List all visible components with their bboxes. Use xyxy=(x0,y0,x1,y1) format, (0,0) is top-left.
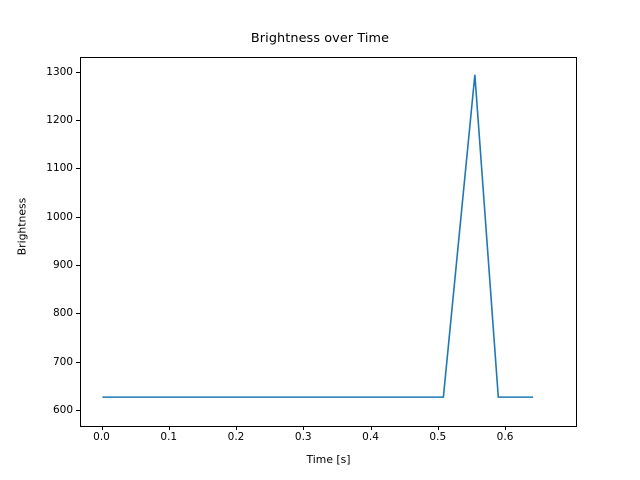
y-tick-label: 1000 xyxy=(46,211,73,223)
plot-area xyxy=(80,57,577,427)
y-tick-label: 700 xyxy=(53,356,73,368)
x-tick-label: 0.6 xyxy=(497,431,514,443)
y-tick-label: 800 xyxy=(53,307,73,319)
y-tick-label: 600 xyxy=(53,404,73,416)
matplotlib-figure: Brightness over Time Brightness 60070080… xyxy=(0,0,640,480)
y-tick-label: 1100 xyxy=(46,162,73,174)
y-axis-tick-labels: 6007008009001000110012001300 xyxy=(0,0,73,480)
x-tick-label: 0.2 xyxy=(228,431,245,443)
x-tick-label: 0.0 xyxy=(93,431,110,443)
x-tick-label: 0.5 xyxy=(429,431,446,443)
x-tick-label: 0.1 xyxy=(160,431,177,443)
x-tick-label: 0.4 xyxy=(362,431,379,443)
chart-title: Brightness over Time xyxy=(0,31,640,46)
y-tick-label: 1200 xyxy=(46,114,73,126)
series-brightness-line xyxy=(102,75,533,397)
data-line-svg xyxy=(81,58,576,426)
x-tick-label: 0.3 xyxy=(295,431,312,443)
y-tick-label: 900 xyxy=(53,259,73,271)
x-axis-label: Time [s] xyxy=(80,453,577,466)
y-tick-label: 1300 xyxy=(46,66,73,78)
